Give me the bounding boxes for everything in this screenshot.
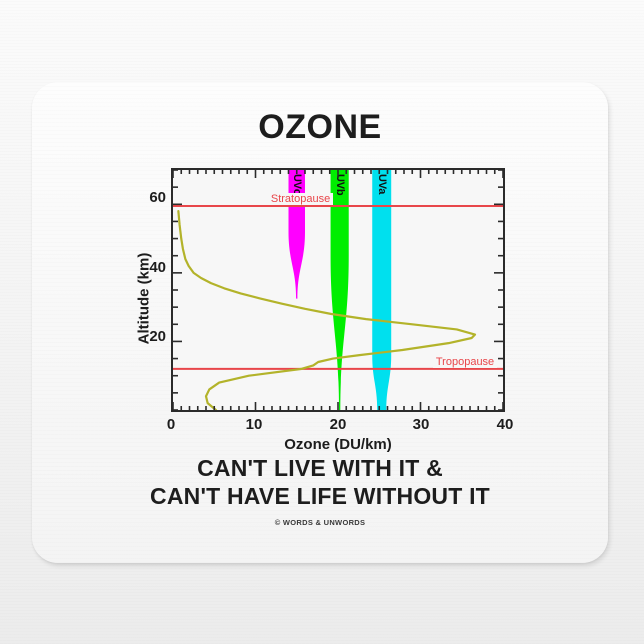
x-axis-title: Ozone (DU/km) <box>171 436 505 453</box>
x-tick-10: 10 <box>239 416 269 433</box>
y-tick-20: 20 <box>132 328 166 345</box>
page-title: OZONE <box>32 108 608 147</box>
x-tick-20: 20 <box>323 416 353 433</box>
x-tick-40: 40 <box>490 416 520 433</box>
caption-line-2: CAN'T HAVE LIFE WITHOUT IT <box>32 482 608 510</box>
x-tick-30: 30 <box>406 416 436 433</box>
credit-line: © WORDS & UNWORDS <box>32 518 608 527</box>
y-tick-60: 60 <box>132 189 166 206</box>
x-tick-0: 0 <box>156 416 186 433</box>
caption-line-1: CAN'T LIVE WITH IT & <box>32 454 608 482</box>
y-tick-40: 40 <box>132 259 166 276</box>
caption-block: CAN'T LIVE WITH IT & CAN'T HAVE LIFE WIT… <box>32 454 608 510</box>
axis-ticks <box>171 168 505 412</box>
mousepad-surface: OZONE Altitude (km) 60 40 20 0 10 20 30 … <box>32 82 608 563</box>
ozone-chart: Altitude (km) 60 40 20 0 10 20 30 40 Ozo… <box>32 154 608 434</box>
desk-background: OZONE Altitude (km) 60 40 20 0 10 20 30 … <box>0 0 644 644</box>
y-axis-tick-labels: 60 40 20 <box>130 154 166 398</box>
